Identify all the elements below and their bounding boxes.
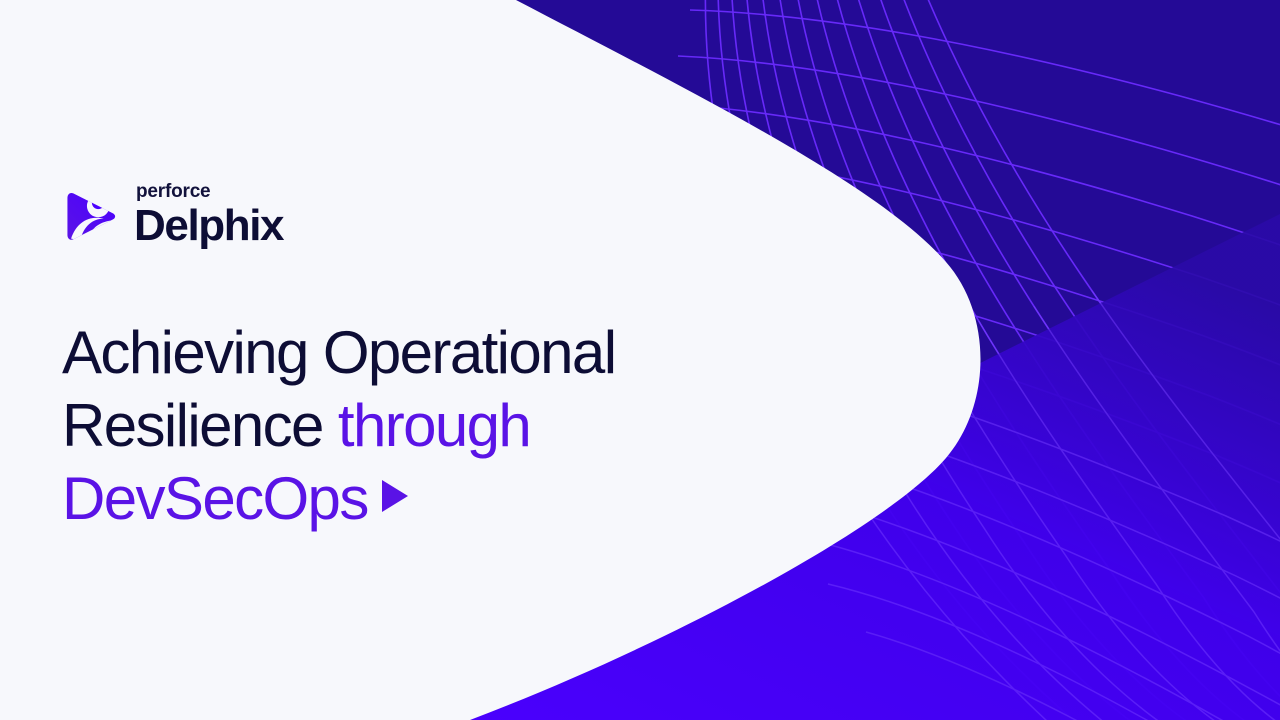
logo-perforce-text: perforce [136,182,283,201]
title-slide: perforce Delphix Achieving Operational R… [0,0,1280,720]
logo-wordmark: perforce Delphix [134,182,283,248]
headline-line-2-plain: Resilience [62,392,338,459]
headline-line-2: Resilience through [62,389,702,462]
play-triangle-icon [382,480,408,512]
headline-line-1: Achieving Operational [62,316,702,389]
delphix-play-mark-icon [62,186,120,244]
headline-line-3: DevSecOps [62,462,702,535]
delphix-logo: perforce Delphix [62,182,283,248]
logo-delphix-text: Delphix [134,204,283,248]
slide-headline: Achieving Operational Resilience through… [62,316,702,536]
headline-line-3-accent: DevSecOps [62,465,368,532]
slide-content: perforce Delphix Achieving Operational R… [0,0,700,720]
headline-line-2-accent: through [338,392,530,459]
